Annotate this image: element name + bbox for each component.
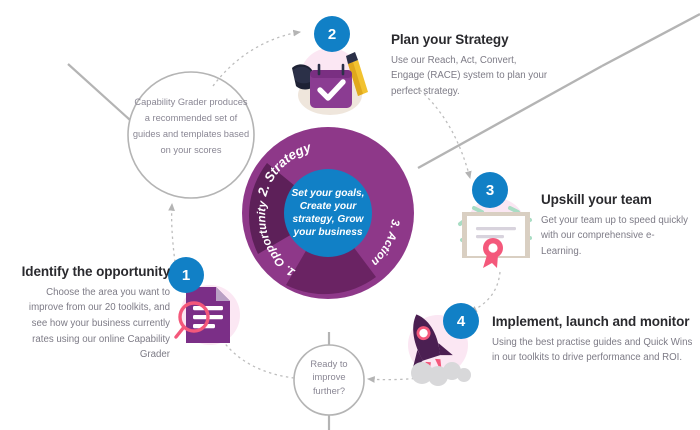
checklist-calendar-icon — [288, 40, 372, 120]
right-diagonal-line-outer — [602, 14, 700, 66]
step-4-body: Using the best practise guides and Quick… — [492, 335, 698, 366]
grader-spoke-line — [68, 64, 130, 120]
step-2-heading: Plan your Strategy — [391, 32, 551, 48]
step-badge-4-number: 4 — [457, 313, 465, 330]
step-text-4: Implement, launch and monitor Using the … — [492, 314, 698, 366]
step-text-1: Identify the opportunity Choose the area… — [18, 264, 170, 363]
donut-hub: Set your goals, Create your strategy, Gr… — [285, 170, 371, 256]
central-cycle-donut: 2. Strategy 1. Opportunity 3. Action Set… — [242, 127, 414, 299]
step-text-3: Upskill your team Get your team up to sp… — [541, 192, 691, 260]
step-text-2: Plan your Strategy Use our Reach, Act, C… — [391, 32, 551, 100]
dotted-arrow-step1-to-grader — [172, 204, 175, 262]
step-badge-4[interactable]: 4 — [443, 303, 479, 339]
step-badge-2[interactable]: 2 — [314, 16, 350, 52]
step-4-heading: Implement, launch and monitor — [492, 314, 698, 330]
step-2-body: Use our Reach, Act, Convert, Engage (RAC… — [391, 53, 551, 100]
dotted-arrow-to-step2 — [213, 32, 300, 86]
step-3-body: Get your team up to speed quickly with o… — [541, 213, 691, 260]
hub-text: Set your goals, Create your strategy, Gr… — [289, 187, 367, 239]
step-3-heading: Upskill your team — [541, 192, 691, 208]
infographic-canvas: 2. Strategy 1. Opportunity 3. Action Set… — [0, 0, 700, 430]
step-badge-3-number: 3 — [486, 182, 494, 199]
ready-to-improve-note: Ready to improve further? — [296, 358, 362, 398]
step-1-body: Choose the area you want to improve from… — [18, 285, 170, 364]
step-badge-2-number: 2 — [328, 26, 336, 43]
dotted-arrow-to-step3 — [420, 90, 470, 178]
step-badge-1-number: 1 — [182, 267, 190, 284]
step-badge-1[interactable]: 1 — [168, 257, 204, 293]
step-1-heading: Identify the opportunity — [18, 264, 170, 280]
step-badge-3[interactable]: 3 — [472, 172, 508, 208]
capability-grader-note: Capability Grader produces a recommended… — [132, 95, 250, 159]
